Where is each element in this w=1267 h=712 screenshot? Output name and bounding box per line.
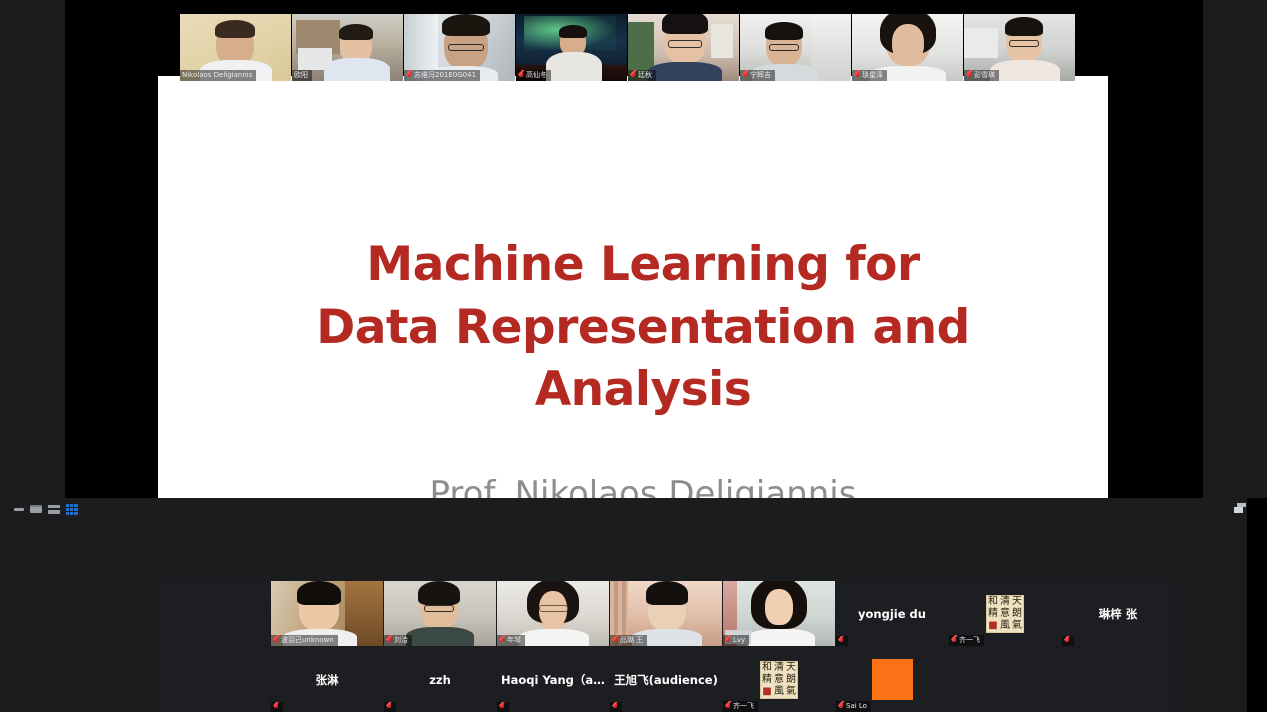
mic-muted-icon bbox=[518, 72, 524, 80]
restore-window-icon[interactable] bbox=[1234, 503, 1246, 513]
participant-tile[interactable]: 廷秋 bbox=[628, 14, 739, 81]
mic-muted-icon bbox=[499, 703, 505, 711]
calligraphy-glyph: 清 bbox=[773, 662, 785, 674]
mic-muted-icon bbox=[630, 72, 636, 80]
participant-name-tag: 苏维冯201E0G041 bbox=[404, 70, 480, 81]
calligraphy-glyph: 清 bbox=[999, 596, 1011, 608]
participant-display-name: yongjie du bbox=[854, 607, 930, 621]
split-view-icon[interactable] bbox=[48, 505, 60, 514]
participant-tile[interactable]: Haoqi Yang（a... bbox=[497, 647, 609, 712]
calligraphy-glyph: 風 bbox=[773, 686, 785, 698]
participant-name-tag: Lvy bbox=[723, 635, 749, 646]
view-mode-toolbar[interactable] bbox=[14, 503, 78, 515]
mic-muted-icon bbox=[966, 72, 972, 80]
gallery-row: 张淋 zzh Haoqi Yang（a... bbox=[158, 647, 1108, 712]
participant-name-tag: 琰星泽 bbox=[852, 70, 887, 81]
avatar-hair bbox=[418, 581, 460, 605]
participant-name-tag: Nikolaos Deligiannis bbox=[180, 70, 256, 81]
mic-muted-icon bbox=[386, 637, 392, 645]
calligraphy-glyph: 朗 bbox=[1011, 608, 1023, 620]
mic-muted-icon bbox=[273, 703, 279, 711]
calligraphy-glyph: 精 bbox=[761, 674, 773, 686]
participant-name-tag bbox=[1062, 636, 1074, 646]
window-right-gap bbox=[1247, 498, 1267, 712]
calligraphy-glyph: 和 bbox=[761, 662, 773, 674]
glasses-icon bbox=[539, 605, 568, 612]
participant-name-tag bbox=[271, 702, 283, 712]
mic-muted-icon bbox=[854, 72, 860, 80]
calligraphy-glyph: 朗 bbox=[785, 674, 797, 686]
calligraphy-glyph: 意 bbox=[999, 608, 1011, 620]
avatar-body bbox=[990, 60, 1060, 81]
participant-tile[interactable]: zzh bbox=[384, 647, 496, 712]
participant-name: 刘洽 bbox=[394, 636, 408, 645]
participant-display-name: 琳梓 张 bbox=[1095, 606, 1142, 622]
participant-display-name: zzh bbox=[425, 673, 455, 687]
participant-name: 廷秋 bbox=[638, 71, 652, 80]
participant-tile[interactable]: 王旭飞(audience) bbox=[610, 647, 722, 712]
mic-muted-icon bbox=[406, 72, 412, 80]
participant-name-tag: 齐一飞 bbox=[723, 701, 758, 712]
participant-name-tag: 齐一飞 bbox=[949, 635, 984, 646]
participant-name: Lvy bbox=[733, 636, 745, 645]
avatar-hair bbox=[646, 581, 688, 605]
participant-name-tag bbox=[610, 702, 622, 712]
glasses-icon bbox=[1009, 40, 1039, 47]
participant-name-tag: 欧阳 bbox=[292, 70, 312, 81]
mic-muted-icon bbox=[725, 637, 731, 645]
participant-name-tag: 刘洽 bbox=[384, 635, 412, 646]
calligraphy-glyph: 天 bbox=[1011, 596, 1023, 608]
avatar-hair bbox=[662, 14, 708, 34]
calligraphy-glyph: 氣 bbox=[1011, 620, 1023, 632]
participant-display-name: 王旭飞(audience) bbox=[610, 672, 722, 688]
participant-name-tag: 品璐 王 bbox=[610, 635, 647, 646]
participant-strip-top[interactable]: Nikolaos Deligiannis 欧阳 bbox=[180, 14, 1068, 81]
gallery-spacer bbox=[1062, 647, 1174, 712]
mic-muted-icon bbox=[1064, 637, 1070, 645]
profile-avatar-image: 和 清 天 精 意 朗 ■ 風 氣 bbox=[986, 595, 1024, 633]
participant-name-tag: 高仙冬 bbox=[516, 70, 551, 81]
calligraphy-glyph: 意 bbox=[773, 674, 785, 686]
participant-tile[interactable]: 宁辉吉 bbox=[740, 14, 851, 81]
calligraphy-glyph: 風 bbox=[999, 620, 1011, 632]
participant-tile[interactable]: 和 清 天 精 意 朗 ■ 風 氣 齐一飞 bbox=[723, 647, 835, 712]
avatar-face bbox=[765, 589, 793, 625]
participant-name: 宁辉吉 bbox=[750, 71, 771, 80]
participant-name: 波羽己unknown bbox=[281, 636, 334, 645]
participant-tile[interactable]: 苏维冯201E0G041 bbox=[404, 14, 515, 81]
avatar-body bbox=[406, 627, 474, 646]
participant-tile[interactable]: Sai Lo bbox=[836, 647, 948, 712]
participant-name: 苏维冯201E0G041 bbox=[414, 71, 476, 80]
window-chrome-right bbox=[1203, 0, 1267, 498]
participant-name: 琰星泽 bbox=[862, 71, 883, 80]
glasses-icon bbox=[424, 605, 454, 612]
participant-name-tag bbox=[384, 702, 396, 712]
participant-tile[interactable]: yongjie du bbox=[836, 581, 948, 646]
calligraphy-seal: ■ bbox=[761, 686, 773, 698]
avatar-hair bbox=[339, 24, 373, 40]
avatar-hair bbox=[442, 14, 490, 36]
participant-gallery[interactable]: 波羽己unknown 刘洽 bbox=[158, 581, 1108, 712]
participant-name: 齐一飞 bbox=[959, 636, 980, 645]
background-board bbox=[711, 24, 733, 58]
glasses-icon bbox=[448, 44, 484, 51]
gallery-spacer bbox=[949, 647, 1061, 712]
avatar-body bbox=[519, 629, 589, 646]
participant-tile[interactable]: 欧阳 bbox=[292, 14, 403, 81]
glasses-icon bbox=[668, 40, 702, 48]
calligraphy-seal: ■ bbox=[987, 620, 999, 632]
avatar-body bbox=[546, 52, 602, 81]
participant-display-name: Haoqi Yang（a... bbox=[497, 672, 609, 688]
participant-name-tag: 廷秋 bbox=[628, 70, 656, 81]
calligraphy-glyph: 和 bbox=[987, 596, 999, 608]
participant-name-tag: Sai Lo bbox=[836, 701, 871, 712]
gallery-spacer bbox=[158, 647, 270, 712]
mic-muted-icon bbox=[612, 637, 618, 645]
avatar-hair bbox=[1005, 17, 1043, 36]
mic-muted-icon bbox=[725, 703, 731, 711]
participant-tile[interactable]: 高仙冬 bbox=[516, 14, 627, 81]
gallery-row: 波羽己unknown 刘洽 bbox=[158, 581, 1108, 646]
mic-muted-icon bbox=[386, 703, 392, 711]
participant-name-tag: 彭雪瑛 bbox=[964, 70, 999, 81]
participant-name: 年琴 bbox=[507, 636, 521, 645]
participant-name: 齐一飞 bbox=[733, 702, 754, 711]
participant-tile[interactable]: 张淋 bbox=[271, 647, 383, 712]
mic-muted-icon bbox=[499, 637, 505, 645]
participant-name: Sai Lo bbox=[846, 702, 867, 711]
background-desk bbox=[964, 28, 998, 58]
restore-icon-front bbox=[1234, 507, 1243, 513]
avatar-hair bbox=[765, 22, 803, 40]
avatar-hair bbox=[559, 25, 587, 38]
participant-name: 欧阳 bbox=[294, 71, 308, 80]
participant-name-tag: 年琴 bbox=[497, 635, 525, 646]
avatar-body bbox=[648, 62, 722, 81]
participant-tile[interactable]: 彭雪瑛 bbox=[964, 14, 1075, 81]
profile-avatar-color bbox=[872, 659, 913, 700]
avatar-body bbox=[747, 629, 815, 646]
minimize-view-icon[interactable] bbox=[14, 508, 24, 511]
participant-tile[interactable]: 波羽己unknown bbox=[271, 581, 383, 646]
participant-name-tag: 波羽己unknown bbox=[271, 635, 338, 646]
participant-name-tag bbox=[497, 702, 509, 712]
avatar-body bbox=[324, 58, 390, 81]
zoom-meeting-screen: Machine Learning for Data Representation… bbox=[0, 0, 1267, 712]
calligraphy-glyph: 氣 bbox=[785, 686, 797, 698]
calligraphy-glyph: 天 bbox=[785, 662, 797, 674]
participant-tile[interactable]: 琰星泽 bbox=[852, 14, 963, 81]
participant-display-name: 张淋 bbox=[312, 672, 343, 688]
mic-muted-icon bbox=[273, 637, 279, 645]
avatar-hair bbox=[215, 20, 255, 38]
participant-name: 品璐 王 bbox=[620, 636, 643, 645]
participant-tile[interactable]: 品璐 王 bbox=[610, 581, 722, 646]
participant-tile[interactable]: Nikolaos Deligiannis bbox=[180, 14, 291, 81]
participant-tile[interactable]: 和 清 天 精 意 朗 ■ 風 氣 齐一飞 bbox=[949, 581, 1061, 646]
participant-name: 高仙冬 bbox=[526, 71, 547, 80]
participant-tile[interactable]: Lvy bbox=[723, 581, 835, 646]
participant-tile[interactable]: 琳梓 张 bbox=[1062, 581, 1174, 646]
grid-view-icon[interactable] bbox=[66, 504, 78, 515]
avatar-hair bbox=[297, 581, 341, 605]
participant-tile[interactable]: 年琴 bbox=[497, 581, 609, 646]
participant-name-tag: 宁辉吉 bbox=[740, 70, 775, 81]
glasses-icon bbox=[769, 44, 799, 51]
slide-content: Machine Learning for Data Representation… bbox=[208, 110, 1078, 539]
participant-tile[interactable]: 刘洽 bbox=[384, 581, 496, 646]
mic-muted-icon bbox=[838, 637, 844, 645]
mic-muted-icon bbox=[742, 72, 748, 80]
participant-name-tag bbox=[836, 636, 848, 646]
slide-title: Machine Learning for Data Representation… bbox=[313, 234, 973, 422]
gallery-spacer bbox=[158, 581, 270, 646]
mic-muted-icon bbox=[951, 637, 957, 645]
mic-muted-icon bbox=[612, 703, 618, 711]
profile-avatar-image: 和 清 天 精 意 朗 ■ 風 氣 bbox=[760, 661, 798, 699]
avatar-face bbox=[892, 24, 924, 62]
participant-name: 彭雪瑛 bbox=[974, 71, 995, 80]
calligraphy-glyph: 精 bbox=[987, 608, 999, 620]
mic-muted-icon bbox=[838, 703, 844, 711]
window-chrome-left bbox=[0, 0, 65, 498]
single-view-icon[interactable] bbox=[30, 505, 42, 513]
participant-name: Nikolaos Deligiannis bbox=[182, 71, 252, 80]
